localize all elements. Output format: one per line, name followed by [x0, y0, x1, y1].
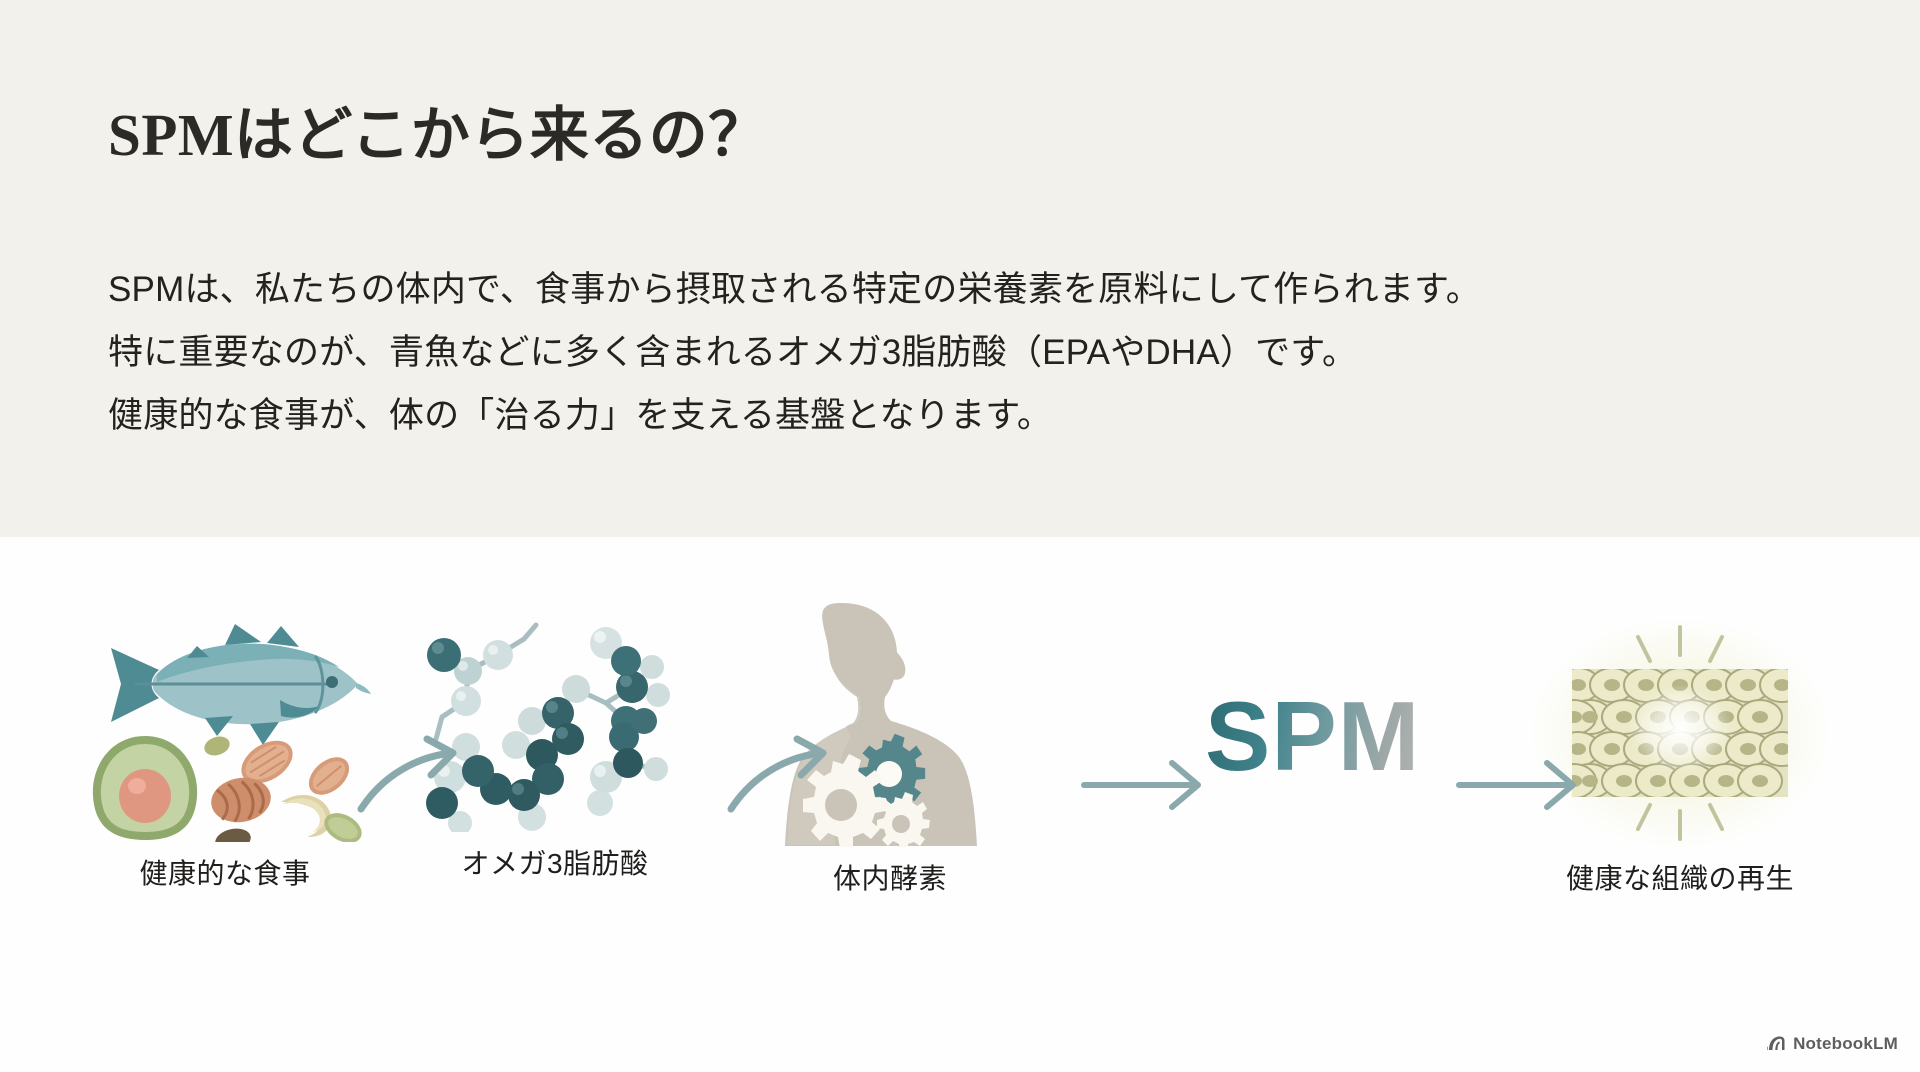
body-line-1: SPMは、私たちの体内で、食事から摂取される特定の栄養素を原料にして作られます。	[108, 258, 1808, 321]
text-panel: SPMはどこから来るの？ SPMは、私たちの体内で、食事から摂取される特定の栄養…	[0, 0, 1920, 537]
notebooklm-label: NotebookLM	[1793, 1034, 1898, 1054]
fish-avocado-nuts-icon	[60, 612, 390, 842]
slide-canvas: SPMはどこから来るの？ SPMは、私たちの体内で、食事から摂取される特定の栄養…	[0, 0, 1920, 1072]
flow-node-label: 健康的な食事	[60, 852, 390, 892]
flow-node-label: オメガ3脂肪酸	[395, 842, 715, 882]
flow-arrow-curved-2	[725, 735, 835, 835]
body-paragraph: SPMは、私たちの体内で、食事から摂取される特定の栄養素を原料にして作られます。…	[108, 258, 1808, 447]
spm-wordmark: SPM	[1205, 687, 1420, 785]
illustration-panel: 健康的な食事	[0, 537, 1920, 1072]
notebooklm-watermark: NotebookLM	[1766, 1034, 1898, 1054]
flow-node-label: 健康な組織の再生	[1490, 857, 1870, 897]
process-flow-diagram: 健康的な食事	[0, 537, 1920, 1072]
flow-node-label: 体内酵素	[735, 857, 1045, 897]
flow-node-diet: 健康的な食事	[60, 612, 390, 892]
body-line-2: 特に重要なのが、青魚などに多く含まれるオメガ3脂肪酸（EPAやDHA）です。	[108, 321, 1808, 384]
flow-arrow-straight-1	[1080, 755, 1210, 815]
page-title: SPMはどこから来るの？	[108, 102, 768, 170]
body-line-3: 健康的な食事が、体の「治る力」を支える基盤となります。	[108, 384, 1808, 447]
notebooklm-spiral-icon	[1766, 1035, 1786, 1053]
flow-arrow-straight-2	[1455, 755, 1585, 815]
flow-arrow-curved-1	[355, 735, 465, 835]
